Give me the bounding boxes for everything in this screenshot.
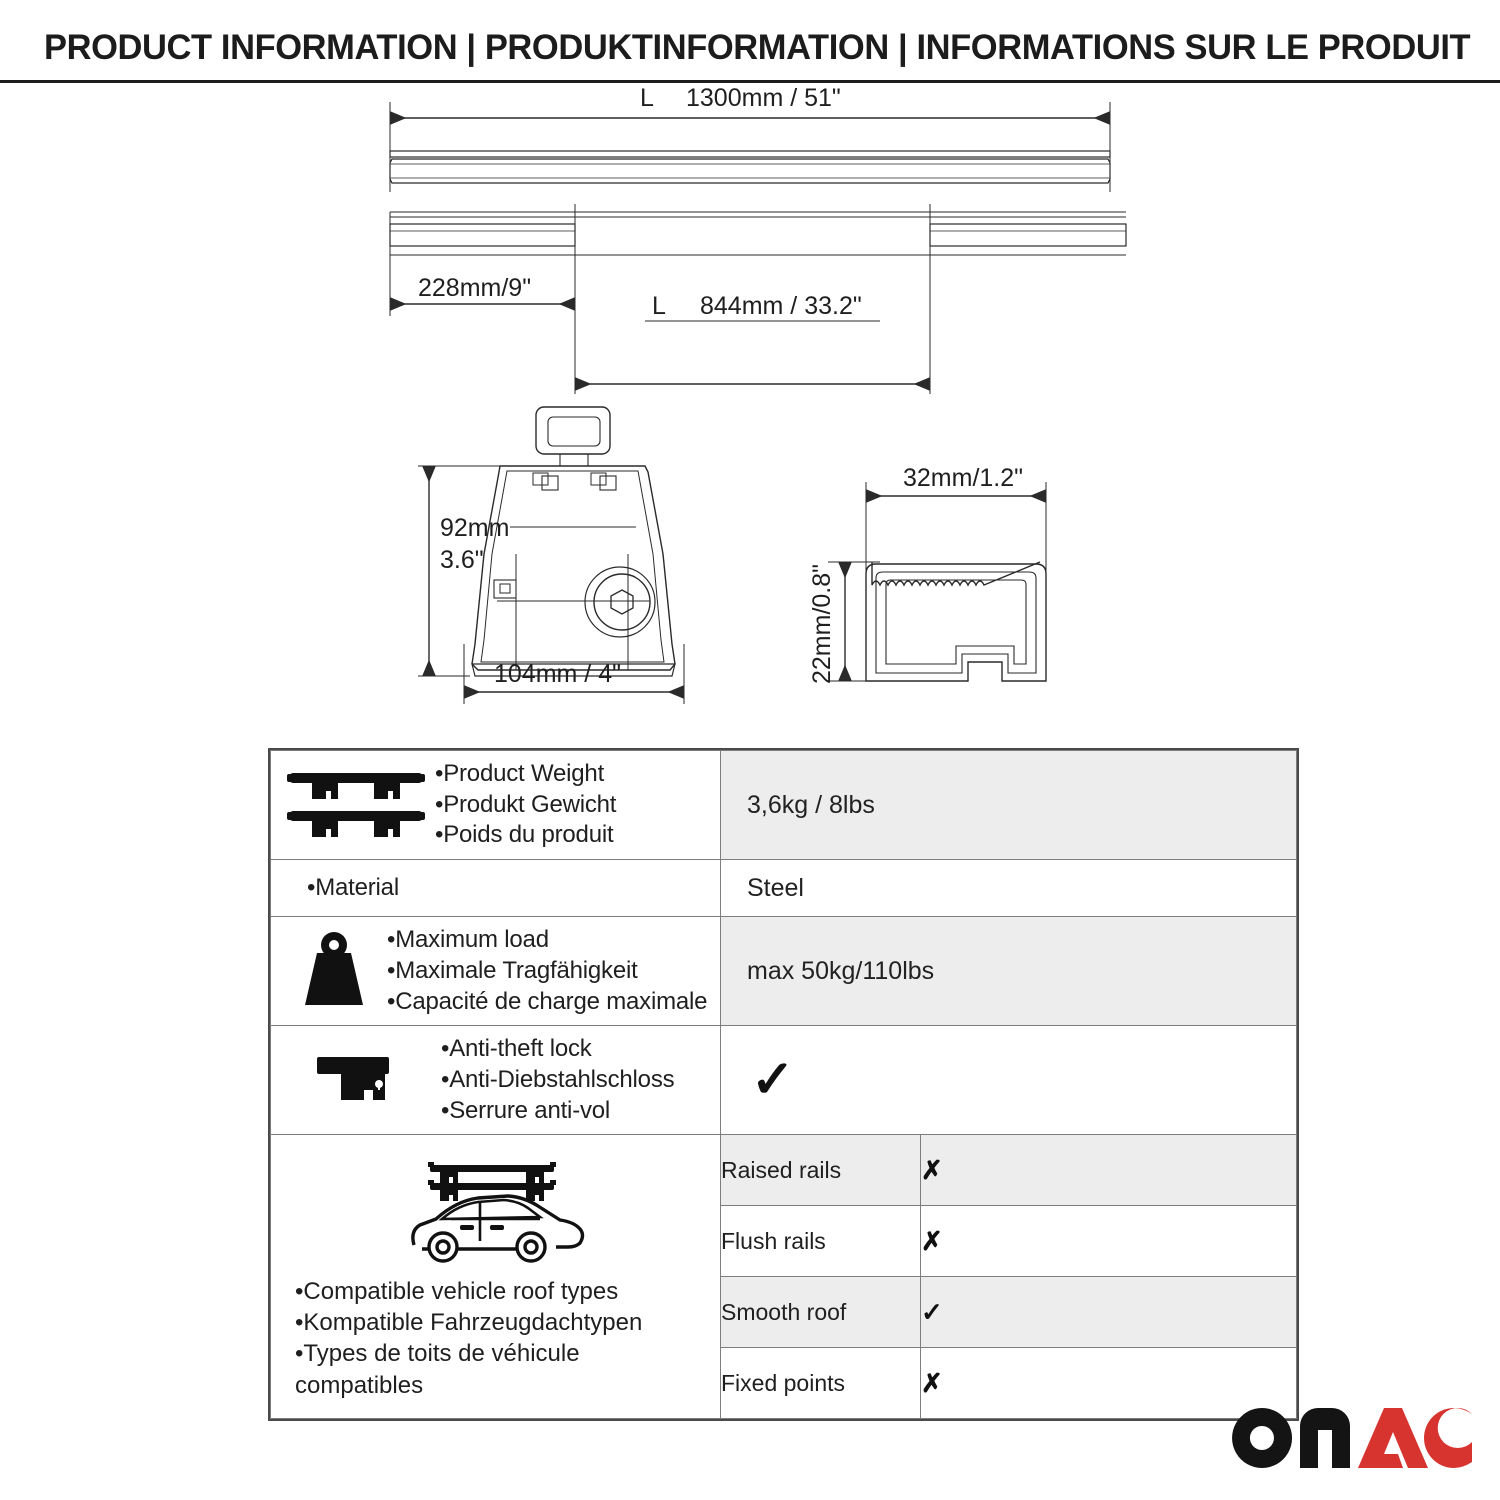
omac-logo bbox=[1232, 1408, 1472, 1470]
label-line: •Anti-theft lock bbox=[441, 1034, 674, 1065]
lock-icon bbox=[281, 1049, 441, 1111]
bar-span-value: 844mm / 33.2" bbox=[700, 292, 862, 320]
label-line: •Compatible vehicle roof types bbox=[295, 1276, 720, 1307]
max-load-labels: •Maximum load •Maximale Tragfähigkeit •C… bbox=[387, 925, 707, 1017]
material-label-cell: •Material bbox=[271, 860, 721, 917]
anti-theft-labels: •Anti-theft lock •Anti-Diebstahlschloss … bbox=[441, 1034, 674, 1126]
product-weight-value: 3,6kg / 8lbs bbox=[721, 751, 1297, 860]
label-line: •Poids du produit bbox=[435, 820, 616, 851]
anti-theft-value: ✓ bbox=[721, 1026, 1297, 1135]
label-line: •Maximale Tragfähigkeit bbox=[387, 956, 707, 987]
anti-theft-check-mark: ✓ bbox=[747, 1051, 795, 1109]
label-line: •Capacité de charge maximale bbox=[387, 987, 707, 1018]
label-line: •Kompatible Fahrzeugdachtypen bbox=[295, 1307, 720, 1338]
roof-type-name-smooth-roof: Smooth roof bbox=[721, 1277, 921, 1348]
table-row: •Anti-theft lock •Anti-Diebstahlschloss … bbox=[271, 1026, 1297, 1135]
product-weight-label-cell: •Product Weight •Produkt Gewicht •Poids … bbox=[271, 751, 721, 860]
weight-icon bbox=[281, 931, 387, 1011]
max-load-value: max 50kg/110lbs bbox=[721, 917, 1297, 1026]
foot-height-line1: 92mm bbox=[440, 514, 509, 542]
material-value: Steel bbox=[721, 860, 1297, 917]
table-row: •Material Steel bbox=[271, 860, 1297, 917]
label-line: •Types de toits de véhicule bbox=[295, 1338, 720, 1369]
label-line: •Produkt Gewicht bbox=[435, 790, 616, 821]
roof-type-name-raised-rails: Raised rails bbox=[721, 1135, 921, 1206]
roof-type-mark-flush-rails: ✗ bbox=[921, 1206, 1297, 1277]
anti-theft-label-cell: •Anti-theft lock •Anti-Diebstahlschloss … bbox=[271, 1026, 721, 1135]
material-labels: •Material bbox=[307, 873, 399, 904]
foot-height-line2: 3.6" bbox=[440, 546, 484, 574]
car-with-roof-bars-icon bbox=[398, 1157, 594, 1270]
label-line: •Maximum load bbox=[387, 925, 707, 956]
roof-type-mark-smooth-roof: ✓ bbox=[921, 1277, 1297, 1348]
spec-table: •Product Weight •Produkt Gewicht •Poids … bbox=[268, 748, 1299, 1421]
compatibility-labels: •Compatible vehicle roof types •Kompatib… bbox=[271, 1276, 720, 1401]
roof-type-name-flush-rails: Flush rails bbox=[721, 1206, 921, 1277]
bar-length-value: 1300mm / 51" bbox=[686, 84, 841, 112]
compatibility-label-cell: •Compatible vehicle roof types •Kompatib… bbox=[271, 1135, 721, 1419]
label-line: •Product Weight bbox=[435, 759, 616, 790]
bar-length-prefix: L bbox=[640, 84, 654, 112]
max-load-label-cell: •Maximum load •Maximale Tragfähigkeit •C… bbox=[271, 917, 721, 1026]
label-line: •Anti-Diebstahlschloss bbox=[441, 1065, 674, 1096]
bar-span-prefix: L bbox=[652, 292, 666, 320]
label-line: •Material bbox=[307, 873, 399, 904]
table-row: •Maximum load •Maximale Tragfähigkeit •C… bbox=[271, 917, 1297, 1026]
label-line: •Serrure anti-vol bbox=[441, 1096, 674, 1127]
logo-red-part bbox=[1358, 1408, 1472, 1468]
header-divider bbox=[0, 80, 1500, 83]
technical-drawing: L 1300mm / 51" 228mm/9" L 844mm / 33.2" bbox=[0, 84, 1500, 734]
product-weight-labels: •Product Weight •Produkt Gewicht •Poids … bbox=[435, 759, 616, 851]
roof-type-name-fixed-points: Fixed points bbox=[721, 1348, 921, 1419]
foot-offset-value: 228mm/9" bbox=[418, 274, 531, 302]
profile-width-value: 32mm/1.2" bbox=[903, 464, 1023, 492]
roof-type-mark-raised-rails: ✗ bbox=[921, 1135, 1297, 1206]
logo-dark-part bbox=[1232, 1408, 1350, 1468]
label-line: compatibles bbox=[295, 1370, 720, 1401]
page-header: PRODUCT INFORMATION | PRODUKTINFORMATION… bbox=[0, 0, 1500, 84]
profile-height-value: 22mm/0.8" bbox=[808, 564, 836, 684]
crossbars-icon bbox=[281, 767, 431, 843]
table-row: •Product Weight •Produkt Gewicht •Poids … bbox=[271, 751, 1297, 860]
table-row: •Compatible vehicle roof types •Kompatib… bbox=[271, 1135, 1297, 1206]
foot-width-value: 104mm / 4" bbox=[494, 660, 621, 688]
page-title: PRODUCT INFORMATION | PRODUKTINFORMATION… bbox=[44, 28, 1470, 68]
